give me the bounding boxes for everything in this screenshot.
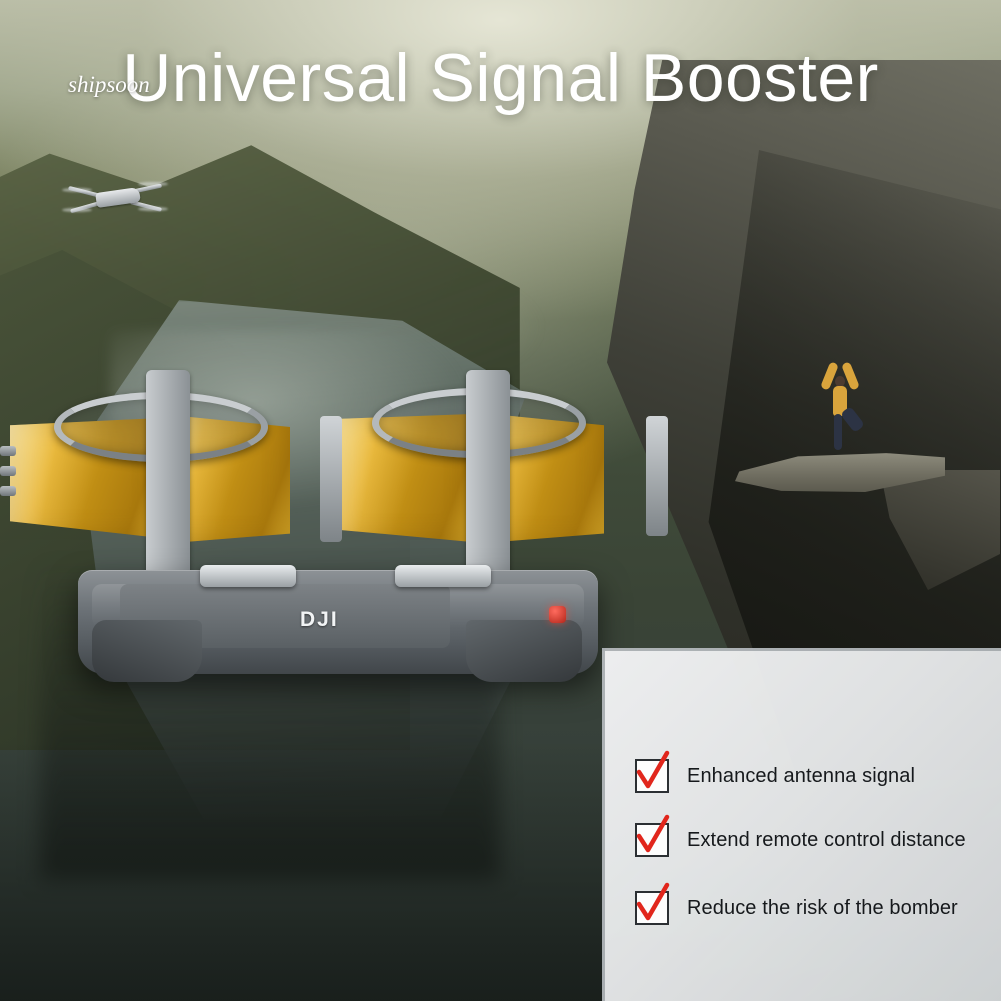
dji-remote-controller-with-booster: DJI xyxy=(0,370,700,700)
booster-clip-top xyxy=(0,446,16,456)
page-title: Universal Signal Booster xyxy=(0,44,1001,112)
drone-propeller-2 xyxy=(62,208,92,212)
controller-left-grip xyxy=(92,620,202,682)
feature-list-panel: Enhanced antenna signal Extend remote co… xyxy=(602,648,1001,1001)
booster-clip-middle xyxy=(0,466,16,476)
person-standing-on-cliff-ledge-icon xyxy=(820,362,860,458)
dji-brand-logo: DJI xyxy=(300,608,339,632)
quadcopter-drone-icon xyxy=(62,178,168,218)
feature-item-2: Extend remote control distance xyxy=(635,823,966,857)
seller-watermark: shipsoon xyxy=(68,72,150,98)
booster-center-bracket xyxy=(320,416,342,542)
controller-right-stick-holder xyxy=(395,565,491,587)
red-check-mark-icon xyxy=(635,759,669,793)
red-check-mark-icon xyxy=(635,823,669,857)
drone-propeller-1 xyxy=(62,188,92,192)
feature-item-3: Reduce the risk of the bomber xyxy=(635,891,958,925)
controller-left-stick-holder xyxy=(200,565,296,587)
feature-item-1: Enhanced antenna signal xyxy=(635,759,915,793)
red-check-mark-icon xyxy=(635,891,669,925)
booster-right-bracket xyxy=(646,416,668,536)
controller-right-grip xyxy=(466,620,582,682)
controller-power-indicator xyxy=(549,606,566,623)
controller-antenna-right xyxy=(466,370,510,580)
drone-propeller-4 xyxy=(138,207,168,211)
feature-item-1-label: Enhanced antenna signal xyxy=(687,765,915,788)
controller-antenna-left xyxy=(146,370,190,580)
feature-item-3-label: Reduce the risk of the bomber xyxy=(687,897,958,920)
feature-item-2-label: Extend remote control distance xyxy=(687,829,966,852)
product-promo-image: Universal Signal Booster shipsoon DJI xyxy=(0,0,1001,1001)
drone-propeller-3 xyxy=(138,182,168,186)
booster-clip-bottom xyxy=(0,486,16,496)
person-left-leg xyxy=(834,414,842,450)
